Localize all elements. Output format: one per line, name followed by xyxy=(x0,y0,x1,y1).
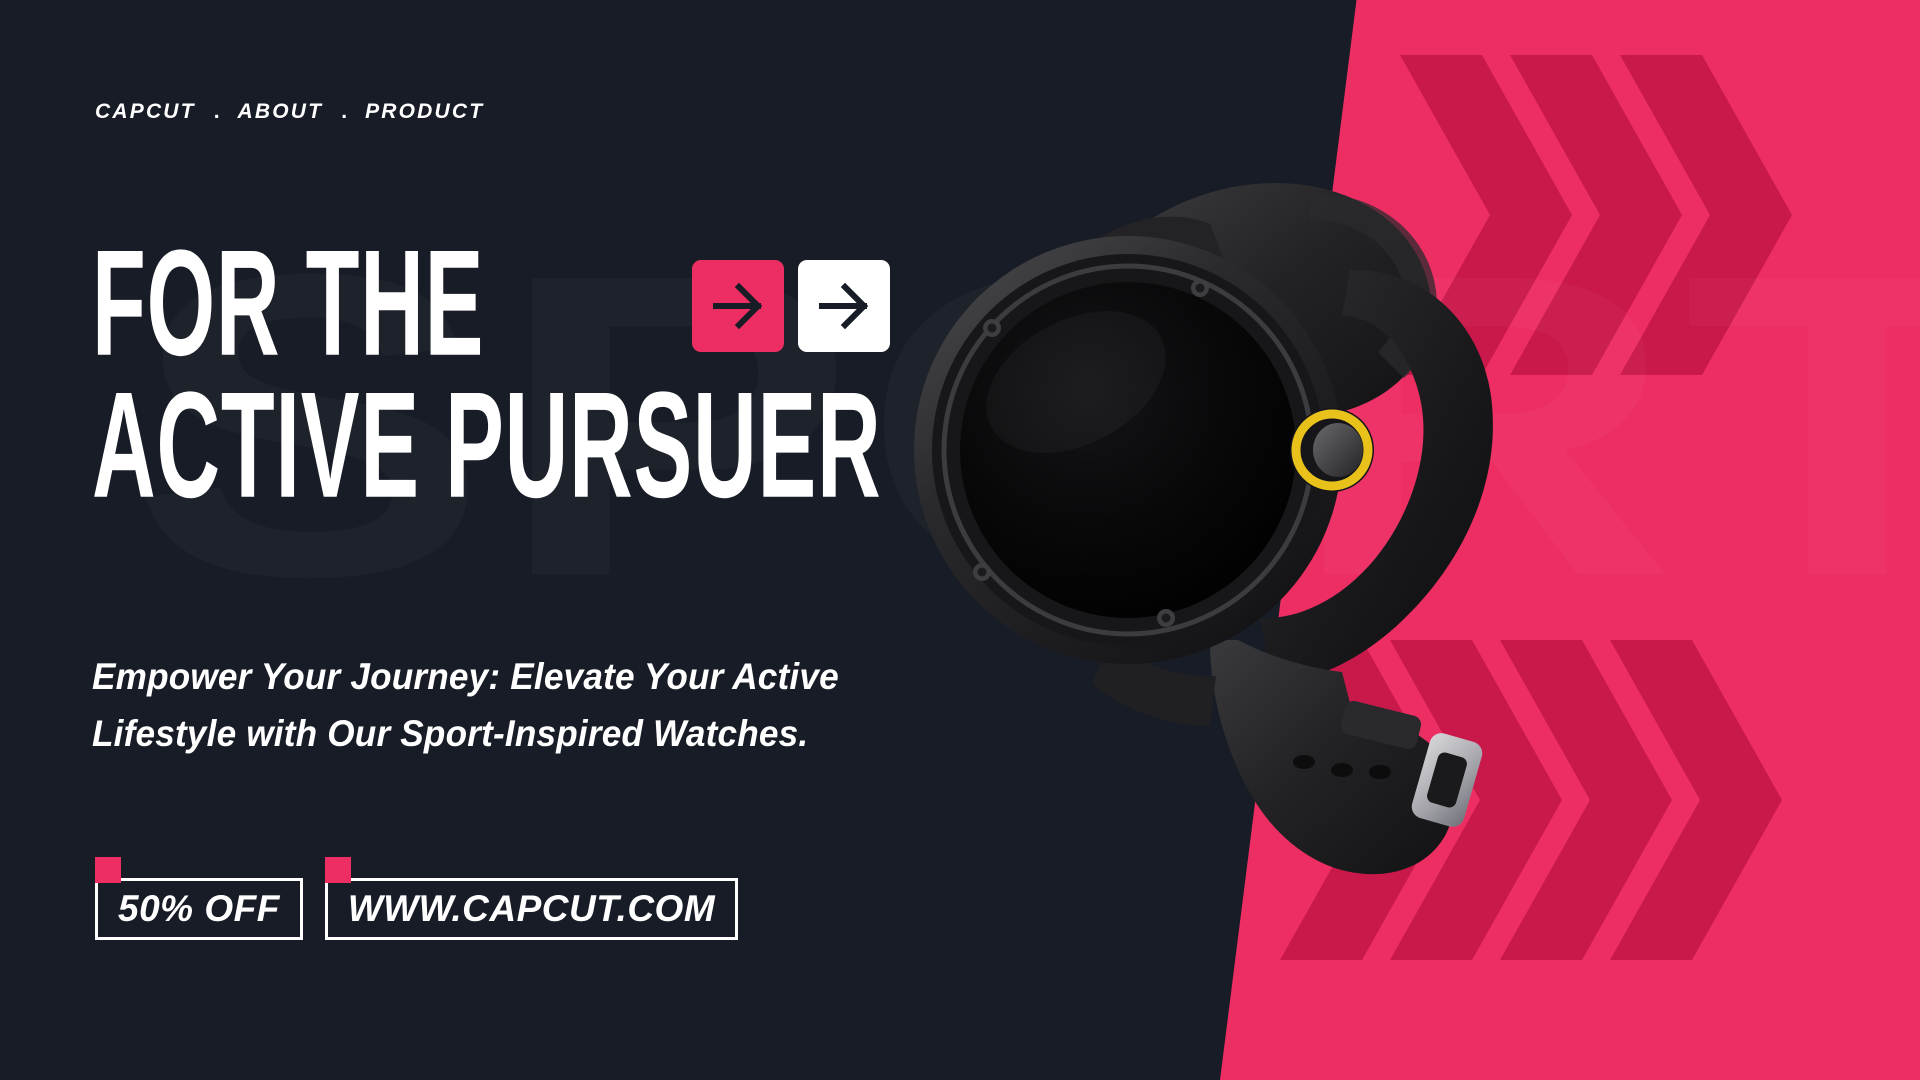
arrow-button-secondary[interactable] xyxy=(798,260,890,352)
smartwatch-illustration xyxy=(880,120,1600,880)
discount-badge[interactable]: 50% OFF xyxy=(95,878,303,940)
nav-separator-2: . xyxy=(323,100,365,124)
product-image-smartwatch xyxy=(880,120,1600,880)
headline-line-1: FOR THE xyxy=(92,234,484,374)
arrow-right-icon xyxy=(711,279,765,333)
nav-item-about[interactable]: ABOUT xyxy=(238,100,324,124)
discount-badge-label: 50% OFF xyxy=(118,888,280,930)
strap-lower xyxy=(1210,640,1454,874)
promo-banner: SPORT CAPCUT . ABOUT . PRODUCT FOR THE xyxy=(0,0,1920,1080)
nav-item-capcut[interactable]: CAPCUT xyxy=(95,100,196,124)
headline-row-1: FOR THE xyxy=(92,250,1131,358)
subtitle-line-2: Lifestyle with Our Sport-Inspired Watche… xyxy=(92,705,814,762)
badge-corner-accent xyxy=(95,857,121,883)
arrow-button-group xyxy=(692,260,890,352)
arrow-right-icon xyxy=(817,279,871,333)
nav-separator-1: . xyxy=(196,100,238,124)
subtitle-line-1: Empower Your Journey: Elevate Your Activ… xyxy=(92,648,814,705)
website-badge[interactable]: WWW.CAPCUT.COM xyxy=(325,878,738,940)
top-navigation: CAPCUT . ABOUT . PRODUCT xyxy=(95,100,484,124)
crown-button xyxy=(1290,408,1374,492)
nav-item-product[interactable]: PRODUCT xyxy=(365,100,484,124)
arrow-button-primary[interactable] xyxy=(692,260,784,352)
headline-line-2: ACTIVE PURSUER xyxy=(92,376,881,516)
subtitle-block: Empower Your Journey: Elevate Your Activ… xyxy=(92,648,852,763)
badge-corner-accent xyxy=(325,857,351,883)
headline-block: FOR THE ACTIVE PURSUER xyxy=(92,250,1131,500)
website-badge-label: WWW.CAPCUT.COM xyxy=(348,888,715,930)
badge-row: 50% OFF WWW.CAPCUT.COM xyxy=(95,878,738,940)
